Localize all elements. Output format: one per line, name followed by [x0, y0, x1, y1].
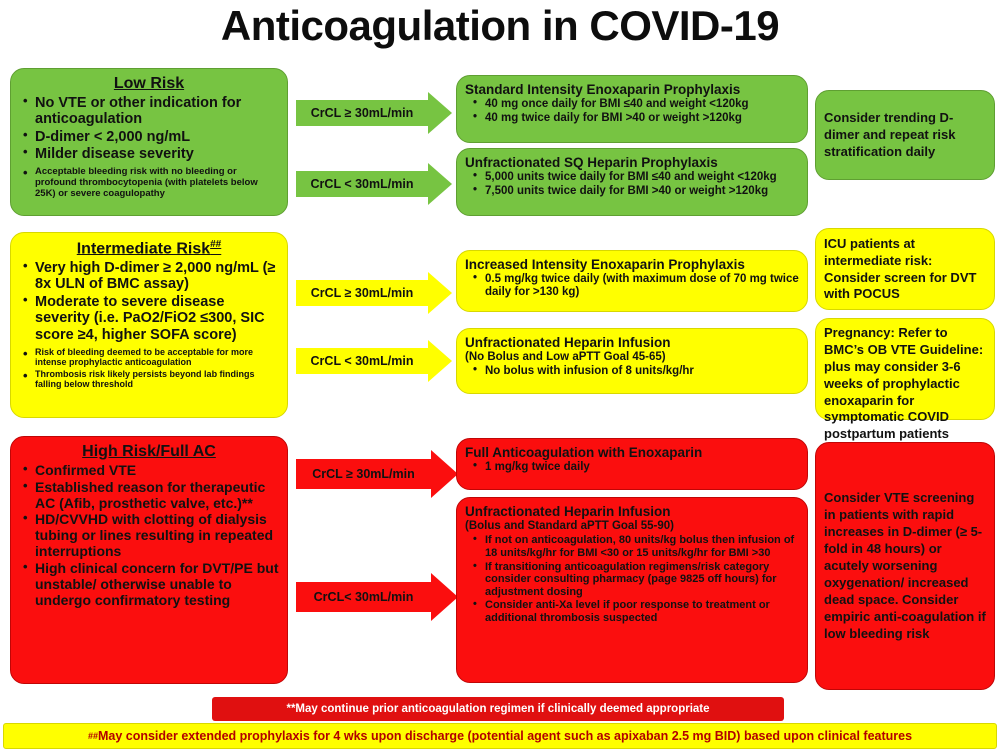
list-item: 0.5 mg/kg twice daily (with maximum dose… [485, 273, 799, 299]
sidebar-note-text: Consider trending D-dimer and repeat ris… [824, 110, 986, 161]
list-item: HD/CVVHD with clotting of dialysis tubin… [35, 512, 279, 560]
low-risk-subbullets: Acceptable bleeding risk with no bleedin… [19, 166, 279, 200]
high-risk-bullets: Confirmed VTE Established reason for the… [19, 463, 279, 610]
treatment-bullets: 0.5 mg/kg twice daily (with maximum dose… [465, 273, 799, 299]
sidebar-note-heading: Pregnancy: Refer to BMC’s OB VTE Guideli… [824, 325, 986, 359]
treatment-heading: Unfractionated Heparin Infusion [465, 335, 799, 350]
low-risk-treatment-heparin-box: Unfractionated SQ Heparin Prophylaxis 5,… [456, 148, 808, 216]
footnote-double-asterisk: ** May continue prior anticoagulation re… [212, 697, 784, 721]
intermediate-risk-arrow-crcl-high: CrCL ≥ 30mL/min [296, 272, 452, 314]
list-item: 7,500 units twice daily for BMI >40 or w… [485, 185, 799, 198]
intermediate-risk-treatment-enoxaparin-box: Increased Intensity Enoxaparin Prophylax… [456, 250, 808, 312]
treatment-heading: Unfractionated Heparin Infusion [465, 504, 799, 519]
footnote-superscript: ** [286, 703, 295, 715]
low-risk-title: Low Risk [19, 75, 279, 93]
treatment-subheading: (No Bolus and Low aPTT Goal 45-65) [465, 351, 799, 364]
list-item: If transitioning anticoagulation regimen… [485, 561, 799, 599]
arrow-label: CrCL < 30mL/min [296, 171, 428, 197]
intermediate-risk-criteria-box: Intermediate Risk## Very high D-dimer ≥ … [10, 232, 288, 418]
sidebar-note-text: ICU patients at intermediate risk: Consi… [824, 236, 986, 304]
treatment-bullets: 5,000 units twice daily for BMI ≤40 and … [465, 171, 799, 198]
intermediate-risk-subbullets: Risk of bleeding deemed to be acceptable… [19, 347, 279, 390]
high-risk-criteria-box: High Risk/Full AC Confirmed VTE Establis… [10, 436, 288, 684]
treatment-heading: Increased Intensity Enoxaparin Prophylax… [465, 257, 799, 272]
high-risk-treatment-enoxaparin-box: Full Anticoagulation with Enoxaparin 1 m… [456, 438, 808, 490]
list-item: If not on anticoagulation, 80 units/kg b… [485, 534, 799, 559]
high-risk-treatment-heparin-box: Unfractionated Heparin Infusion (Bolus a… [456, 497, 808, 683]
low-risk-criteria-box: Low Risk No VTE or other indication for … [10, 68, 288, 216]
arrow-head-icon [431, 573, 458, 621]
list-item: Milder disease severity [35, 146, 279, 163]
low-risk-arrow-crcl-low: CrCL < 30mL/min [296, 163, 452, 205]
list-item: No VTE or other indication for anticoagu… [35, 95, 279, 128]
high-risk-arrow-crcl-high: CrCL ≥ 30mL/min [296, 450, 458, 498]
intermediate-risk-sidebar-pregnancy-note: Pregnancy: Refer to BMC’s OB VTE Guideli… [815, 318, 995, 420]
list-item: Acceptable bleeding risk with no bleedin… [35, 166, 279, 200]
arrow-head-icon [431, 450, 458, 498]
arrow-label: CrCL< 30mL/min [296, 582, 431, 612]
arrow-label: CrCL ≥ 30mL/min [296, 459, 431, 489]
treatment-bullets: 1 mg/kg twice daily [465, 461, 799, 474]
list-item: Very high D-dimer ≥ 2,000 ng/mL (≥ 8x UL… [35, 260, 279, 293]
intermediate-risk-sidebar-icu-note: ICU patients at intermediate risk: Consi… [815, 228, 995, 310]
list-item: No bolus with infusion of 8 units/kg/hr [485, 365, 799, 378]
arrow-head-icon [428, 272, 452, 314]
intermediate-risk-title-superscript: ## [210, 239, 221, 250]
intermediate-risk-arrow-crcl-low: CrCL < 30mL/min [296, 340, 452, 382]
footnote-superscript: ## [88, 731, 98, 741]
intermediate-risk-title-text: Intermediate Risk [77, 240, 210, 257]
arrow-head-icon [428, 92, 452, 134]
list-item: 5,000 units twice daily for BMI ≤40 and … [485, 171, 799, 184]
treatment-bullets: No bolus with infusion of 8 units/kg/hr [465, 365, 799, 378]
high-risk-sidebar-note: Consider VTE screening in patients with … [815, 442, 995, 690]
list-item: High clinical concern for DVT/PE but uns… [35, 561, 279, 609]
intermediate-risk-bullets: Very high D-dimer ≥ 2,000 ng/mL (≥ 8x UL… [19, 260, 279, 344]
treatment-bullets: If not on anticoagulation, 80 units/kg b… [465, 534, 799, 624]
footnote-double-hash: ## May consider extended prophylaxis for… [3, 723, 997, 749]
high-risk-title: High Risk/Full AC [19, 443, 279, 461]
treatment-heading: Standard Intensity Enoxaparin Prophylaxi… [465, 82, 799, 97]
list-item: 1 mg/kg twice daily [485, 461, 799, 474]
treatment-subheading: (Bolus and Standard aPTT Goal 55-90) [465, 520, 799, 533]
low-risk-treatment-enoxaparin-box: Standard Intensity Enoxaparin Prophylaxi… [456, 75, 808, 143]
arrow-head-icon [428, 163, 452, 205]
intermediate-risk-title: Intermediate Risk## [19, 239, 279, 258]
footnote-text: May consider extended prophylaxis for 4 … [98, 729, 912, 743]
list-item: Moderate to severe disease severity (i.e… [35, 294, 279, 344]
list-item: Risk of bleeding deemed to be acceptable… [35, 347, 279, 368]
arrow-head-icon [428, 340, 452, 382]
treatment-heading: Unfractionated SQ Heparin Prophylaxis [465, 155, 799, 170]
list-item: Consider anti-Xa level if poor response … [485, 599, 799, 624]
intermediate-risk-treatment-heparin-box: Unfractionated Heparin Infusion (No Bolu… [456, 328, 808, 394]
page-title: Anticoagulation in COVID-19 [0, 2, 1000, 50]
diagram-canvas: Anticoagulation in COVID-19 Low Risk No … [0, 0, 1000, 750]
high-risk-arrow-crcl-low: CrCL< 30mL/min [296, 573, 458, 621]
footnote-text: May continue prior anticoagulation regim… [295, 703, 709, 715]
low-risk-sidebar-note: Consider trending D-dimer and repeat ris… [815, 90, 995, 180]
list-item: Confirmed VTE [35, 463, 279, 479]
list-item: 40 mg twice daily for BMI >40 or weight … [485, 112, 799, 125]
treatment-heading: Full Anticoagulation with Enoxaparin [465, 445, 799, 460]
treatment-bullets: 40 mg once daily for BMI ≤40 and weight … [465, 98, 799, 125]
list-item: D-dimer < 2,000 ng/mL [35, 129, 279, 146]
arrow-label: CrCL < 30mL/min [296, 348, 428, 374]
list-item: 40 mg once daily for BMI ≤40 and weight … [485, 98, 799, 111]
arrow-label: CrCL ≥ 30mL/min [296, 280, 428, 306]
sidebar-note-text: Consider VTE screening in patients with … [824, 490, 986, 642]
low-risk-bullets: No VTE or other indication for anticoagu… [19, 95, 279, 163]
sidebar-note-text: plus may consider 3-6 weeks of prophylac… [824, 359, 986, 443]
low-risk-arrow-crcl-high: CrCL ≥ 30mL/min [296, 92, 452, 134]
arrow-label: CrCL ≥ 30mL/min [296, 100, 428, 126]
list-item: Thrombosis risk likely persists beyond l… [35, 369, 279, 390]
list-item: Established reason for therapeutic AC (A… [35, 480, 279, 512]
